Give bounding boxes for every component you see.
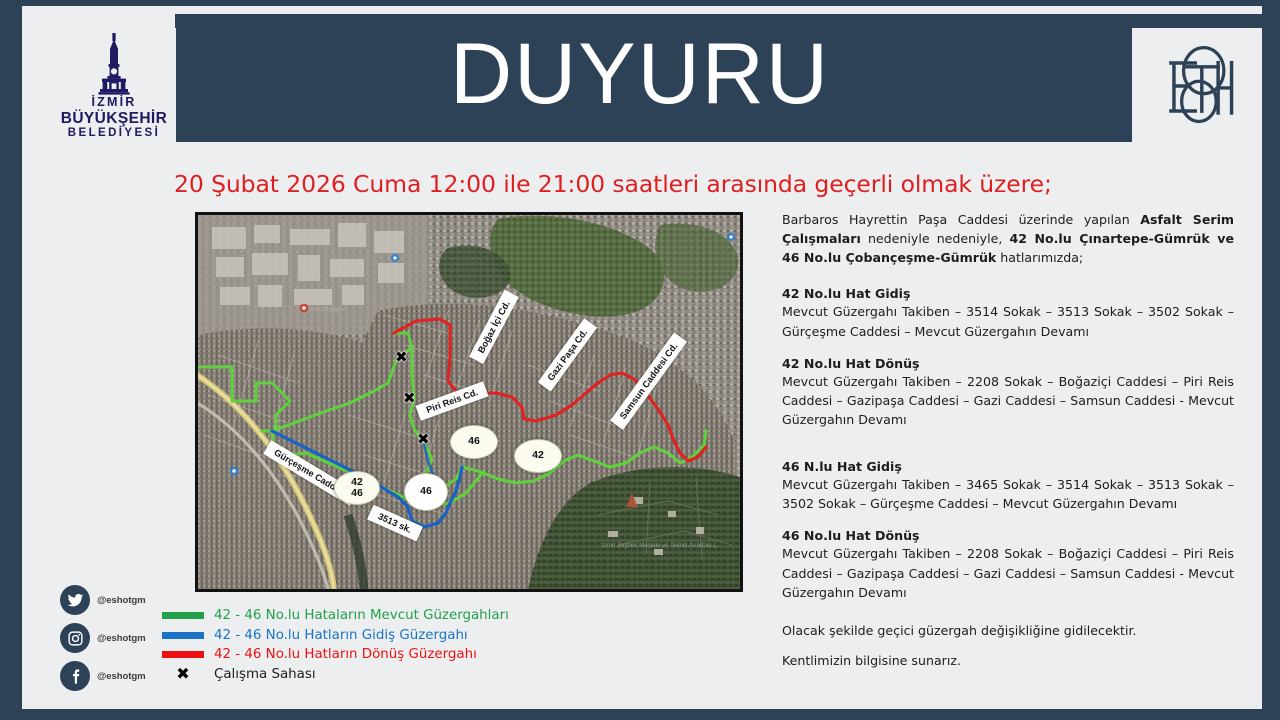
- izmir-logo-line2: BÜYÜKŞEHİR: [61, 110, 167, 127]
- facebook-icon[interactable]: [60, 661, 90, 691]
- route-map[interactable]: İzmir Gürçeşme Gürçeşme: [195, 212, 743, 592]
- section-text-46-gidis: Mevcut Güzergahı Takiben – 3465 Sokak – …: [782, 475, 1234, 513]
- izmir-logo-line1: İZMİR: [91, 96, 136, 110]
- route-badge-46-a: 46: [450, 425, 498, 459]
- izmir-municipality-logo: İZMİR BÜYÜKŞEHİR BELEDİYESİ: [52, 28, 176, 144]
- headline-notice: 20 Şubat 2026 Cuma 12:00 ile 21:00 saatl…: [174, 170, 1174, 198]
- intro-text-3: hatlarımızda;: [996, 250, 1083, 265]
- legend-label-return: 42 - 46 No.lu Hatların Dönüş Güzergahı: [214, 647, 477, 662]
- social-row-instagram[interactable]: @eshotgm: [60, 619, 170, 657]
- section-text-42-donus: Mevcut Güzergahı Takiben – 2208 Sokak – …: [782, 372, 1234, 429]
- section-text-46-donus: Mevcut Güzergahı Takiben – 2208 Sokak – …: [782, 544, 1234, 601]
- section-heading-46-donus: 46 No.lu Hat Dönüş: [782, 528, 1234, 543]
- route-badge-42-46: 4246: [334, 471, 380, 505]
- legend-label-outbound: 42 - 46 No.lu Hatların Gidiş Güzergahı: [214, 628, 468, 643]
- legend-label-existing: 42 - 46 No.lu Hataların Mevcut Güzergahl…: [214, 608, 509, 623]
- twitter-handle: @eshotgm: [97, 595, 146, 606]
- header-band: DUYURU: [175, 14, 1262, 142]
- work-site-marker-2: ✖: [403, 391, 416, 406]
- svg-text:İzmir Gürçeşme: İzmir Gürçeşme: [308, 306, 346, 313]
- section-text-42-gidis: Mevcut Güzergahı Takiben – 3514 Sokak – …: [782, 302, 1234, 340]
- section-heading-42-gidis: 42 No.lu Hat Gidiş: [782, 286, 1234, 301]
- map-legend: 42 - 46 No.lu Hataların Mevcut Güzergahl…: [162, 606, 582, 684]
- page-title: DUYURU: [175, 14, 1105, 142]
- intro-text-1: Barbaros Hayrettin Paşa Caddesi üzerinde…: [782, 212, 1140, 227]
- twitter-icon[interactable]: [60, 585, 90, 615]
- route-badge-42-a: 42: [514, 439, 562, 473]
- closing-line-2: Kentlimizin bilgisine sunarız.: [782, 651, 1234, 670]
- social-row-twitter[interactable]: @eshotgm: [60, 581, 170, 619]
- legend-item-return: 42 - 46 No.lu Hatların Dönüş Güzergahı: [162, 645, 582, 665]
- social-row-facebook[interactable]: @eshotgm: [60, 657, 170, 695]
- facebook-handle: @eshotgm: [97, 671, 146, 682]
- intro-paragraph: Barbaros Hayrettin Paşa Caddesi üzerinde…: [782, 210, 1234, 267]
- route-badge-46-b: 46: [404, 473, 448, 511]
- eshot-monogram-icon: [1149, 38, 1245, 134]
- legend-label-worksite: Çalışma Sahası: [214, 667, 316, 682]
- section-heading-42-donus: 42 No.lu Hat Dönüş: [782, 356, 1234, 371]
- instagram-icon[interactable]: [60, 623, 90, 653]
- announcement-poster: DUYURU: [0, 0, 1280, 720]
- announcement-body: Barbaros Hayrettin Paşa Caddesi üzerinde…: [782, 210, 1234, 670]
- legend-item-existing: 42 - 46 No.lu Hataların Mevcut Güzergahl…: [162, 606, 582, 626]
- instagram-handle: @eshotgm: [97, 633, 146, 644]
- work-site-marker-1: ✖: [395, 350, 408, 365]
- svg-text:İzmir Zeybek Mesleki ve Teknik: İzmir Zeybek Mesleki ve Teknik Anadolu L…: [602, 542, 719, 549]
- social-links: @eshotgm @eshotgm @eshotgm: [60, 581, 170, 695]
- izmir-logo-line3: BELEDİYESİ: [68, 127, 160, 141]
- eshot-logo: [1132, 28, 1262, 144]
- legend-item-outbound: 42 - 46 No.lu Hatların Gidiş Güzergahı: [162, 626, 582, 646]
- section-heading-46-gidis: 46 N.lu Hat Gidiş: [782, 459, 1234, 474]
- clock-tower-icon: [90, 33, 138, 95]
- poster-sheet: DUYURU: [22, 6, 1262, 709]
- work-site-marker-3: ✖: [417, 432, 430, 447]
- intro-text-2: nedeniyle nedeniyle,: [861, 231, 1010, 246]
- legend-item-worksite: ✖ Çalışma Sahası: [162, 665, 582, 685]
- closing-line-1: Olacak şekilde geçici güzergah değişikli…: [782, 621, 1234, 640]
